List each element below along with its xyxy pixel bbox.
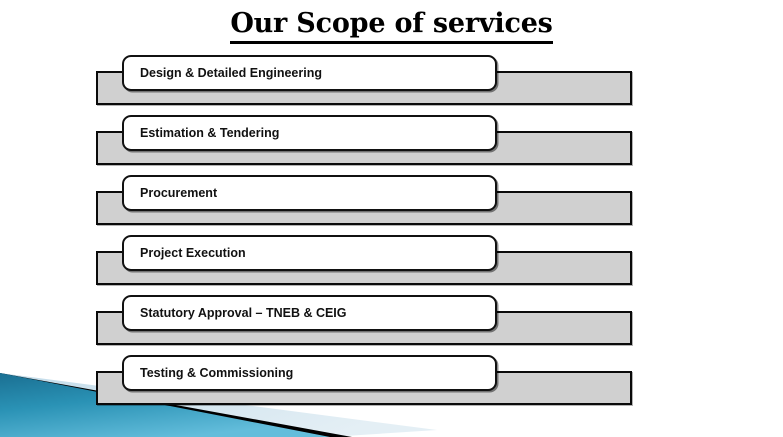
- scope-row-5: Statutory Approval – TNEB & CEIG: [0, 295, 783, 345]
- page-title: Our Scope of services: [0, 8, 783, 44]
- scope-row-1-card[interactable]: Design & Detailed Engineering: [122, 55, 497, 91]
- scope-row-2-label: Estimation & Tendering: [124, 126, 279, 140]
- scope-list: Design & Detailed Engineering Estimation…: [0, 0, 783, 437]
- scope-row-2-card[interactable]: Estimation & Tendering: [122, 115, 497, 151]
- scope-row-5-card[interactable]: Statutory Approval – TNEB & CEIG: [122, 295, 497, 331]
- scope-row-3-card[interactable]: Procurement: [122, 175, 497, 211]
- scope-row-4-label: Project Execution: [124, 246, 246, 260]
- page-title-text: Our Scope of services: [230, 8, 552, 44]
- scope-row-1-label: Design & Detailed Engineering: [124, 66, 322, 80]
- scope-row-3: Procurement: [0, 175, 783, 225]
- scope-row-4: Project Execution: [0, 235, 783, 285]
- scope-row-6: Testing & Commissioning: [0, 355, 783, 405]
- scope-row-6-label: Testing & Commissioning: [124, 366, 293, 380]
- scope-row-5-label: Statutory Approval – TNEB & CEIG: [124, 306, 347, 320]
- scope-row-2: Estimation & Tendering: [0, 115, 783, 165]
- scope-row-3-label: Procurement: [124, 186, 217, 200]
- scope-row-1: Design & Detailed Engineering: [0, 55, 783, 105]
- scope-row-4-card[interactable]: Project Execution: [122, 235, 497, 271]
- slide-canvas: Our Scope of services Design & Detailed …: [0, 0, 783, 437]
- scope-row-6-card[interactable]: Testing & Commissioning: [122, 355, 497, 391]
